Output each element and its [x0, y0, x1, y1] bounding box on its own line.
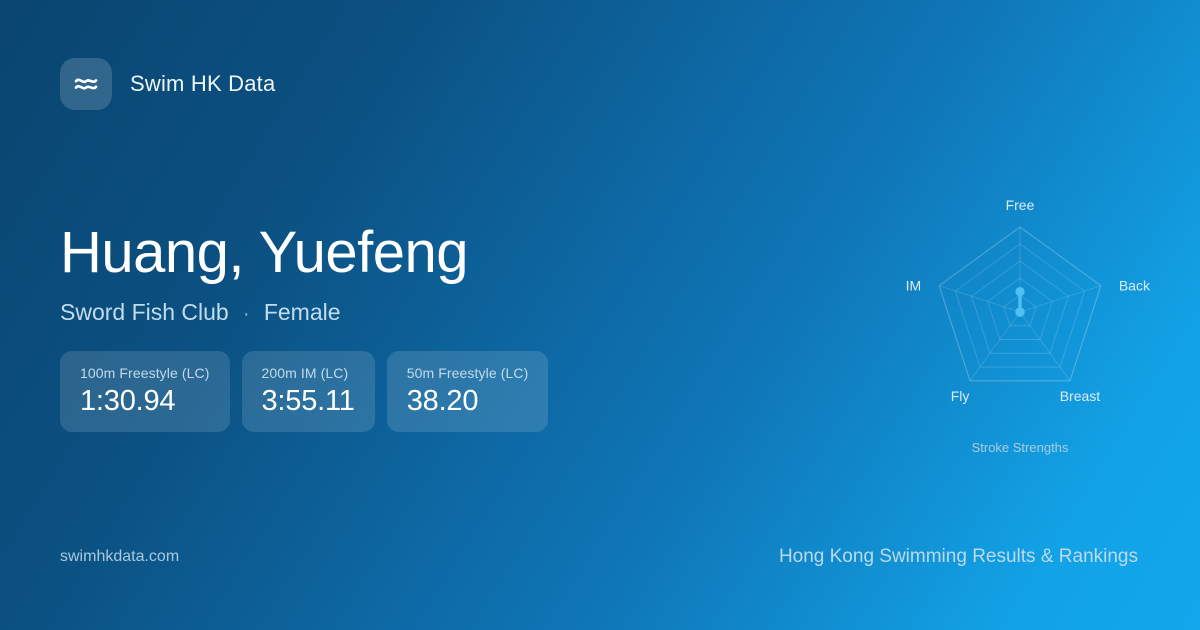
radar-axis-label-back: Back: [1119, 278, 1151, 294]
stat-value: 1:30.94: [80, 386, 210, 416]
page-title: Huang, Yuefeng: [60, 222, 468, 283]
athlete-hero: Huang, Yuefeng Sword Fish Club · Female: [60, 222, 468, 326]
stat-card-list: 100m Freestyle (LC) 1:30.94 200m IM (LC)…: [60, 351, 548, 432]
stat-label: 200m IM (LC): [262, 365, 355, 381]
radar-data-point: [1015, 307, 1024, 316]
radar-axis-labels: FreeBackBreastFlyIM: [906, 197, 1151, 404]
stat-label: 100m Freestyle (LC): [80, 365, 210, 381]
radar-spoke: [939, 286, 1020, 312]
stat-card[interactable]: 200m IM (LC) 3:55.11: [242, 351, 375, 432]
radar-data-point: [1015, 287, 1024, 296]
footer-site-url[interactable]: swimhkdata.com: [60, 548, 179, 566]
radar-spoke: [970, 312, 1020, 381]
athlete-meta: Sword Fish Club · Female: [60, 299, 468, 326]
radar-caption: Stroke Strengths: [972, 440, 1069, 455]
radar-axis-label-im: IM: [906, 278, 922, 294]
wave-icon: [60, 58, 112, 110]
stat-value: 3:55.11: [262, 386, 355, 416]
radar-series-shape: [1015, 287, 1024, 317]
radar-spoke: [1020, 312, 1070, 381]
radar-spoke: [1020, 286, 1101, 312]
brand-header[interactable]: Swim HK Data: [60, 58, 275, 110]
meta-separator: ·: [235, 304, 257, 325]
footer-tagline: Hong Kong Swimming Results & Rankings: [779, 546, 1138, 568]
stat-card[interactable]: 50m Freestyle (LC) 38.20: [387, 351, 549, 432]
radar-axis-label-breast: Breast: [1060, 388, 1101, 404]
brand-name: Swim HK Data: [130, 71, 275, 97]
stat-card[interactable]: 100m Freestyle (LC) 1:30.94: [60, 351, 230, 432]
radar-axis-label-free: Free: [1006, 197, 1035, 213]
radar-axis-label-fly: Fly: [951, 388, 970, 404]
stat-value: 38.20: [407, 386, 529, 416]
stat-label: 50m Freestyle (LC): [407, 365, 529, 381]
athlete-club: Sword Fish Club: [60, 299, 229, 325]
stroke-strengths-radar-chart: FreeBackBreastFlyIM Stroke Strengths: [860, 160, 1180, 480]
athlete-gender: Female: [264, 299, 341, 325]
